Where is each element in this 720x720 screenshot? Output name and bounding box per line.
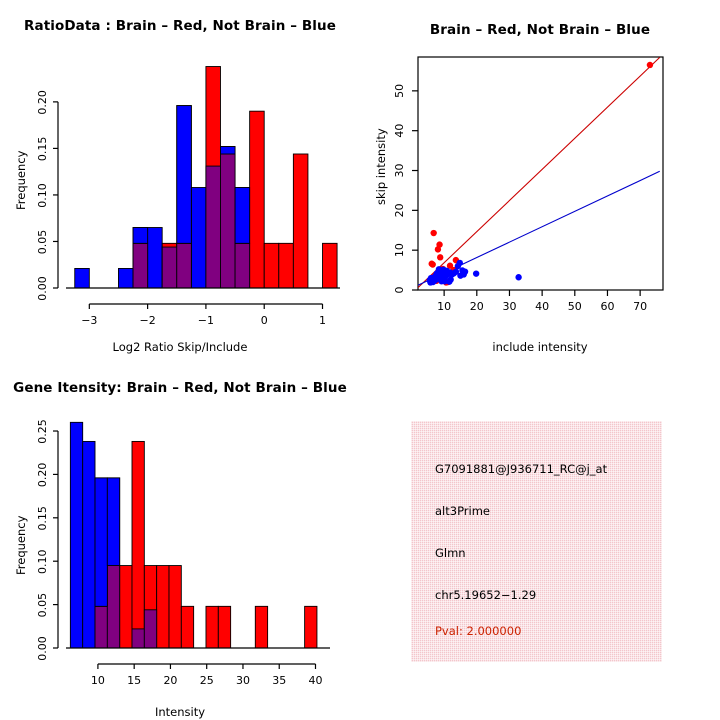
ratio-bar-blue-cap	[177, 106, 192, 244]
intensity-bar-overlap	[95, 606, 107, 648]
ratio-bar-red	[264, 243, 279, 288]
scatter-x-tick-label: 70	[633, 300, 647, 313]
scatter-point	[461, 271, 467, 277]
intensity-yaxis-label: Frequency	[14, 516, 28, 575]
scatter-fit-line-brain-fit	[418, 57, 660, 287]
intensity-x-tick-label: 10	[91, 674, 105, 687]
intensity-x-tick-label: 40	[308, 674, 322, 687]
scatter-plot: 0102030405010203040506070	[360, 0, 720, 360]
scatter-point	[647, 62, 653, 68]
scatter-x-tick-label: 20	[470, 300, 484, 313]
scatter-plot-frame	[418, 57, 663, 290]
scatter-x-tick-label: 40	[535, 300, 549, 313]
intensity-bar-overlap	[144, 610, 156, 648]
ratio-bar-red	[279, 243, 294, 288]
ratio-bar-blue	[118, 268, 133, 288]
ratio-y-tick-label: 0.20	[36, 90, 49, 115]
ratio-y-tick-label: 0.00	[36, 276, 49, 301]
scatter-x-tick-label: 60	[600, 300, 614, 313]
ratio-y-tick-label: 0.10	[36, 183, 49, 208]
ratio-bar-blue-cap	[235, 187, 250, 243]
scatter-y-tick-label: 40	[393, 124, 406, 138]
panel-intensity-scatter: Brain – Red, Not Brain – Blue 0102030405…	[360, 0, 720, 360]
ratio-bar-blue-cap	[220, 147, 235, 154]
intensity-bar-red	[305, 606, 317, 648]
intensity-x-tick-label: 20	[163, 674, 177, 687]
ratio-y-tick-label: 0.15	[36, 137, 49, 162]
intensity-y-tick-label: 0.10	[36, 549, 49, 574]
intensity-bar-red	[255, 606, 267, 648]
intensity-bar-blue-cap	[95, 478, 107, 606]
gene-symbol-text: Glmn	[435, 546, 466, 560]
ratio-bar-overlap	[162, 247, 177, 288]
intensity-x-tick-label: 30	[236, 674, 250, 687]
ratio-bar-blue	[148, 228, 163, 288]
scatter-x-tick-label: 10	[437, 300, 451, 313]
pval-text: Pval: 2.000000	[435, 624, 521, 638]
ratio-x-tick-label: −1	[198, 314, 214, 327]
ratio-x-tick-label: −2	[140, 314, 156, 327]
intensity-bar-red	[218, 606, 230, 648]
scatter-point	[473, 270, 479, 276]
intensity-y-tick-label: 0.15	[36, 506, 49, 531]
scatter-yaxis-label: skip intensity	[374, 128, 388, 205]
scatter-point	[430, 230, 436, 236]
scatter-x-tick-label: 30	[502, 300, 516, 313]
scatter-y-tick-label: 50	[393, 84, 406, 98]
scatter-x-tick-label: 50	[568, 300, 582, 313]
intensity-bar-red	[132, 441, 144, 648]
intensity-xaxis-label: Intensity	[0, 705, 360, 719]
scatter-xaxis-label: include intensity	[360, 340, 720, 354]
ratio-bar-overlap	[235, 243, 250, 288]
intensity-bar-blue-cap	[107, 478, 119, 566]
intensity-bar-red	[206, 606, 218, 648]
scatter-point	[435, 246, 441, 252]
scatter-point	[455, 263, 461, 269]
intensity-y-tick-label: 0.20	[36, 463, 49, 488]
scatter-point	[430, 261, 436, 267]
scatter-point	[437, 254, 443, 260]
panel-gene-info: G7091881@J936711_RC@j_at alt3Prime Glmn …	[360, 360, 720, 720]
scatter-y-tick-label: 0	[393, 287, 406, 294]
scatter-y-tick-label: 10	[393, 243, 406, 257]
panel-gene-intensity-histogram: Gene Itensity: Brain – Red, Not Brain – …	[0, 360, 360, 720]
scatter-y-tick-label: 20	[393, 203, 406, 217]
intensity-bar-red	[157, 566, 169, 648]
gene-info-box: G7091881@J936711_RC@j_at alt3Prime Glmn …	[411, 421, 662, 662]
locus-text: chr5.19652−1.29	[435, 588, 536, 602]
scatter-point	[427, 277, 433, 283]
ratio-x-tick-label: 1	[319, 314, 326, 327]
intensity-bar-red	[169, 566, 181, 648]
ratio-bar-overlap	[177, 243, 192, 288]
intensity-y-tick-label: 0.00	[36, 636, 49, 661]
ratio-yaxis-label: Frequency	[14, 151, 28, 210]
scatter-point	[515, 274, 521, 280]
ratio-bar-red	[323, 243, 338, 288]
ratio-bar-blue	[75, 268, 90, 288]
panel-ratio-histogram: RatioData : Brain – Red, Not Brain – Blu…	[0, 0, 360, 360]
intensity-bar-red	[181, 606, 193, 648]
intensity-bar-red	[120, 566, 132, 648]
scatter-point	[436, 266, 442, 272]
probe-id-text: G7091881@J936711_RC@j_at	[435, 462, 607, 476]
intensity-bar-overlap	[132, 629, 144, 648]
event-type-text: alt3Prime	[435, 504, 490, 518]
ratio-histogram-plot: 0.000.050.100.150.20−3−2−101	[0, 0, 360, 360]
intensity-bar-overlap	[107, 566, 119, 648]
ratio-xaxis-label: Log2 Ratio Skip/Include	[0, 340, 360, 354]
ratio-bar-overlap	[220, 154, 235, 288]
ratio-bar-blue-cap	[133, 228, 148, 244]
ratio-bar-blue	[191, 187, 206, 288]
scatter-content	[418, 57, 660, 287]
intensity-y-tick-label: 0.25	[36, 419, 49, 444]
intensity-bar-blue	[83, 441, 95, 648]
scatter-point	[447, 276, 453, 282]
scatter-y-tick-label: 30	[393, 164, 406, 178]
ratio-bar-overlap	[206, 166, 221, 288]
ratio-bar-red	[293, 154, 308, 288]
intensity-y-tick-label: 0.05	[36, 593, 49, 618]
ratio-bar-red	[250, 111, 265, 288]
intensity-x-tick-label: 25	[200, 674, 214, 687]
intensity-x-tick-label: 15	[127, 674, 141, 687]
intensity-bar-blue	[70, 422, 82, 648]
intensity-x-tick-label: 35	[272, 674, 286, 687]
ratio-x-tick-label: −3	[81, 314, 97, 327]
ratio-y-tick-label: 0.05	[36, 230, 49, 255]
ratio-x-tick-label: 0	[261, 314, 268, 327]
gene-intensity-plot: 0.000.050.100.150.200.2510152025303540	[0, 360, 360, 720]
ratio-bar-overlap	[133, 243, 148, 288]
